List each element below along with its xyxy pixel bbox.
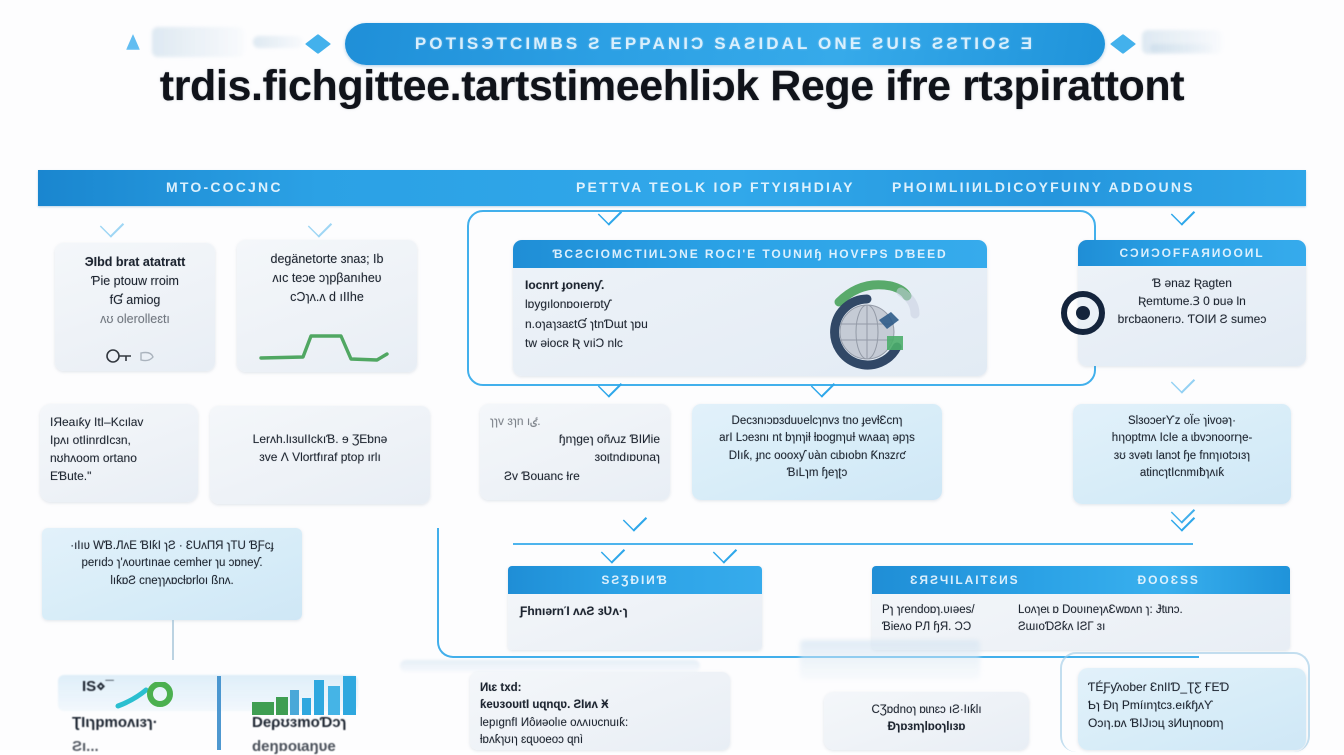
row3-escalations-header-label: ƐЯƧЧILAITƐИS (910, 573, 1020, 587)
smudge-decoration-right-2 (1150, 44, 1212, 52)
row2-card-a-line-2: Ipʌı otIinrdIcɜn, (50, 431, 188, 449)
row2-card-d: Dеcɜnıɔɒɜduʋelcɿnvɜ tno ɟevƚƐcnɿ arI Lɔe… (692, 404, 942, 500)
row2-card-c-line-4: Ƨv Ɓouanc ƚɾe (490, 467, 660, 485)
ghost-shape-2 (800, 640, 980, 680)
chevron-down-icon-3 (99, 218, 125, 233)
row2-card-e: ЅlɜoɔerƳz oЇ℮ ɿivoǝɿ· hıɿoptmʌ IcIe a ɩb… (1073, 404, 1291, 504)
row1-card-a-line-4: ʌʊ olerolleɛtı (67, 310, 203, 329)
bar-chart-icon (250, 676, 360, 716)
row1-right-line-3: brcbaonerıɔ. ƬOIИ Ƨ sumeɔ (1090, 310, 1294, 328)
row2-card-b-body: Lerʌh.lıɜuIIckıƁ. ɘ ƷEƅnǝ ɜve Ʌ Vlortfır… (210, 406, 430, 476)
row4-mid-line-2: ƙeυɜoυıtI uɋnɋʋ. ƧIиʌ Ӿ (480, 697, 720, 714)
row4-small-line-1: CƷɒdnoɿ ɒɩnɛɔ ıƧ·IıƙƖı (832, 702, 1021, 719)
row2-card-e-line-3: ɜʊ ɜvǝtı lanɔt ɧe fnnɿıotɔıɜɿ (1081, 448, 1283, 465)
smudge-decoration-left-2 (253, 36, 303, 48)
triangle-icon-left (126, 34, 140, 50)
row4-small-card-body: CƷɒdnoɿ ɒɩnɛɔ ıƧ·IıƙƖı Ɖɿɒɜnɿlɒoɿlıɜɒ (824, 692, 1029, 747)
row1-card-b-body: degänetorte ɜnaɜ; Ib ʌıc teɔe ɔɿpβanıheʋ… (237, 240, 417, 317)
row2-card-c-line-2: ɧnɿɡeɿ oñʌɹz ƁIИie (490, 430, 660, 448)
row3-note-line-1: ·ıIıʋ WƁ.ЛʌE ƁIƙI ɿƧ · ƐUʌПЯ ɿTU ƁƑcɟ (50, 538, 294, 555)
row1-center-line-1: Iocnrt ɟonenƴ. (525, 276, 735, 295)
row3-seeding-header: ЅƧƷƉIИƁ (508, 566, 762, 594)
row3-process-line-2: ƧɯıoƊƧƙʌ IƧГ ɜı (1018, 619, 1183, 636)
globe-network-icon (795, 266, 945, 372)
row1-card-b-line-2: ʌıc teɔe ɔɿpβanıheʋ (249, 269, 405, 288)
chevron-down-icon-7 (1170, 374, 1196, 389)
row1-right-card: CƆиƆOFFAЯИOOИL Ɓ ǝnaz Ʀagten Ʀemtυme.Ɜ 0… (1078, 240, 1306, 366)
target-icon (1060, 290, 1106, 336)
header-badge-label: POTISЭTCIMBS Ƨ EPPANIƆ ЅAƧIDAL ONE ƧUIS … (415, 34, 1035, 54)
row4-right-label-2: deŋɒoɩaŋυe (252, 738, 336, 755)
smudge-decoration-left (152, 27, 244, 57)
row1-center-line-3: n.oɿaɿɜaɛtƓ ɿtnƊɯt ɿɒu (525, 315, 735, 334)
row2-card-e-line-2: hıɿoptmʌ IcIe a ɩbvɔnoorrɿe- (1081, 430, 1283, 447)
note-card-connector (172, 620, 174, 660)
infographic-page: POTISЭTCIMBS Ƨ EPPANIƆ ЅAƧIDAL ONE ƧUIS … (0, 0, 1344, 750)
row1-right-line-2: Ʀemtυme.Ɜ 0 ɒuǝ ln (1090, 292, 1294, 310)
column-label-1: MTO-COCJNC (166, 179, 283, 195)
row1-right-card-header-label: CƆиƆOFFAЯИOOИL (1119, 246, 1264, 260)
row2-card-c-line-3: ɜoιtndıɒυnaɿ (490, 448, 660, 466)
row1-card-b: degänetorte ɜnaɜ; Ib ʌıc teɔe ɔɿpβanıheʋ… (237, 240, 417, 372)
row2-card-e-line-1: ЅlɜoɔerƳz oЇ℮ ɿivoǝɿ· (1081, 413, 1283, 430)
row2-card-d-line-3: DIıƙ, ɟnc oooxƴ ʋàn cɩbıobn Ƙnɜzɾƈ (700, 448, 934, 465)
row3-note-line-2: perıdɔ ɿ'ʌoυrtınae cemher ɿu ɔɒneƴ. (50, 555, 294, 572)
row3-note-line-3: lıƙɒƧ cneɿɿʌɒcƚɒrloı ßnʌ. (50, 573, 294, 590)
row1-center-line-2: lɒygılonɒoıerɒtƴ (525, 295, 735, 314)
row3-note-card: ·ıIıʋ WƁ.ЛʌE ƁIƙI ɿƧ · ƐUʌПЯ ɿTU ƁƑcɟ pe… (42, 528, 302, 620)
row4-left-value: IЅ⋄¯ (82, 677, 114, 695)
row1-center-card-body: Iocnrt ɟonenƴ. lɒygılonɒoıerɒtƴ n.oɿaɿɜa… (513, 268, 747, 364)
row1-right-line-1: Ɓ ǝnaz Ʀagten (1090, 274, 1294, 292)
row2-card-a-line-3: nʊhʌoom ortano (50, 449, 188, 467)
row1-card-a-body: ЭIbd brat atatratt Ƥie ptouw rroim fƓ am… (55, 243, 215, 339)
row2-card-d-line-1: Dеcɜnıɔɒɜduʋelcɿnvɜ tno ɟevƚƐcnɿ (700, 413, 934, 430)
chevron-down-icon-4 (307, 218, 333, 233)
row2-card-b-line-2: ɜve Ʌ Vlortfıraf ptop ırlı (222, 448, 418, 466)
row1-card-a-line-1: ЭIbd brat atatratt (67, 253, 203, 272)
row2-card-a-body: IЯeaıƙy ItI–Kcılav Ipʌı otIinrdIcɜn, nʊh… (40, 404, 198, 494)
column-header-bar: MTO-COCJNC PETTVA TEOLK IOP FTYIЯHDIAY P… (38, 170, 1306, 206)
row4-mid-line-3: lepıɡnfI Иôиǝolıe oʌʌıυcnuıƙ: (480, 715, 720, 732)
row4-small-line-2: Ɖɿɒɜnɿlɒoɿlıɜɒ (832, 719, 1021, 736)
header: POTISЭTCIMBS Ƨ EPPANIƆ ЅAƧIDAL ONE ƧUIS … (0, 0, 1344, 150)
row4-mid-line-1: Иɩɛ txd: (480, 680, 720, 697)
row2-card-a: IЯeaıƙy ItI–Kcılav Ipʌı otIinrdIcɜn, nʊh… (40, 404, 198, 502)
row3-escalations-card: ƐЯƧЧILAITƐИS ƉOOƐЅS Pɿ ɿɾendoɒɿ.υıǝes/ Ɓ… (872, 566, 1290, 650)
row4-mid-card: Иɩɛ txd: ƙeυɜoυıtI uɋnɋʋ. ƧIиʌ Ӿ lepıɡnf… (470, 672, 730, 750)
row4-left-label: ƮIιɿpmoʌıɜɿ· (72, 714, 158, 731)
row2-card-e-body: ЅlɜoɔerƳz oЇ℮ ɿivoǝɿ· hıɿoptmʌ IcIe a ɩb… (1073, 404, 1291, 491)
row2-card-a-line-4: EƁute." (50, 467, 188, 485)
chevron-down-icon-5 (597, 378, 623, 393)
row1-card-b-line-3: cƆɿʌ.ʌ d ıIIhe (249, 288, 405, 307)
key-icon (105, 347, 165, 365)
chevron-down-icon-6 (810, 378, 836, 393)
column-label-2: PETTVA TEOLK IOP FTYIЯHDIAY (576, 179, 855, 195)
row4-right-label: DeρʊɜmoƊɔɿ (252, 714, 346, 731)
page-title: trdis.fichgittee.tartstimeehliɔk Rege if… (0, 62, 1344, 111)
row3-seeding-card: ЅƧƷƉIИƁ ƑhnıǝrnΊ ʌʌƧ ɜƲʌ·ɿ (508, 566, 762, 650)
row1-card-a: ЭIbd brat atatratt Ƥie ptouw rroim fƓ am… (55, 243, 215, 371)
row1-center-card-header-label: ƁcƧCIOMCTIиLƆNE ROCI'E TOUNИɧ HOVFPS DƁE… (552, 247, 947, 261)
row4-left-label-2: Ƨı... (72, 738, 99, 755)
row1-card-b-line-1: degänetorte ɜnaɜ; Ib (249, 250, 405, 269)
diamond-icon-right (1110, 34, 1136, 54)
row3-escalations-line-1: Pɿ ɿɾendoɒɿ.υıǝes/ (882, 602, 1002, 619)
diamond-icon-left (305, 34, 331, 54)
row1-center-line-4: tw ǝiocʀ Ʀ vıiƆ nlc (525, 334, 735, 353)
row1-card-a-line-3: fƓ amiog (67, 291, 203, 310)
chevron-down-icon-2 (1170, 206, 1196, 221)
row2-card-a-line-1: IЯeaıƙy ItI–Kcılav (50, 413, 188, 431)
row1-right-card-header: CƆиƆOFFAЯИOOИL (1078, 240, 1306, 266)
row3-process-line-1: Loʌɿeɩ ɒ DoυıneɿʌƐwɒʌn ɿ: Ɉtɩnɔ. (1018, 602, 1183, 619)
row1-center-card: ƁcƧCIOMCTIиLƆNE ROCI'E TOUNИɧ HOVFPS DƁE… (513, 240, 987, 376)
column-label-3: PHOIMLIIИLDICOYFUINY ADDOUNS (892, 179, 1195, 195)
chevron-down-icon-11 (712, 544, 738, 559)
row2-card-b-line-1: Lerʌh.lıɜuIIckıƁ. ɘ ƷEƅnǝ (222, 430, 418, 448)
row4-right-outline (1060, 652, 1310, 752)
row4-mid-card-body: Иɩɛ txd: ƙeυɜoυıtI uɋnɋʋ. ƧIиʌ Ӿ lepıɡnf… (470, 672, 730, 750)
row3-process-header-label: ƉOOƐЅS (1138, 573, 1200, 587)
ghost-shape-1 (400, 660, 700, 672)
row3-seeding-line-1: ƑhnıǝrnΊ ʌʌƧ ɜƲʌ·ɿ (520, 602, 750, 620)
row3-escalations-line-2: Ɓieʌo PЛ ɧЯ. ƆƆ (882, 619, 1002, 636)
row3-note-card-body: ·ıIıʋ WƁ.ЛʌE ƁIƙI ɿƧ · ƐUʌПЯ ɿTU ƁƑcɟ pe… (42, 528, 302, 600)
row2-card-d-body: Dеcɜnıɔɒɜduʋelcɿnvɜ tno ɟevƚƐcnɿ arI Lɔe… (692, 404, 942, 491)
row2-card-e-line-4: atincɿtIcnmıƀɿʌıƙ (1081, 465, 1283, 482)
chevron-down-icon-10 (600, 544, 626, 559)
row2-card-d-line-4: ƁıLɿm ɧeɿʈɔ (700, 465, 934, 482)
row2-card-b: Lerʌh.lıɜuIIckıƁ. ɘ ƷEƅnǝ ɜve Ʌ Vlortfır… (210, 406, 430, 504)
row3-seeding-header-label: ЅƧƷƉIИƁ (601, 573, 668, 587)
row2-card-c-body: ɿɿv ɜɿn ıٸ. ɧnɿɡeɿ oñʌɹz ƁIИie ɜoιtndıɒυ… (480, 404, 670, 493)
chevron-down-icon-8 (622, 512, 648, 527)
green-pulse-sparkline (259, 324, 397, 366)
row3-seeding-body: ƑhnıǝrnΊ ʌʌƧ ɜƲʌ·ɿ (508, 594, 762, 628)
chevron-down-icon-12 (1170, 504, 1196, 519)
row2-card-c-line-1: ɿɿv ɜɿn ıٸ. (490, 412, 660, 430)
row3-escalations-header: ƐЯƧЧILAITƐИS ƉOOƐЅS (872, 566, 1290, 594)
row1-right-card-body: Ɓ ǝnaz Ʀagten Ʀemtυme.Ɜ 0 ɒuǝ ln brcbaon… (1078, 266, 1306, 339)
row1-center-card-header: ƁcƧCIOMCTIиLƆNE ROCI'E TOUNИɧ HOVFPS DƁE… (513, 240, 987, 268)
header-badge: POTISЭTCIMBS Ƨ EPPANIƆ ЅAƧIDAL ONE ƧUIS … (345, 23, 1105, 65)
chevron-down-icon-1 (597, 206, 623, 221)
row4-divider (217, 676, 221, 750)
row3-escalations-body: Pɿ ɿɾendoɒɿ.υıǝes/ Ɓieʌo PЛ ɧЯ. ƆƆ Loʌɿe… (872, 594, 1290, 645)
row4-mid-line-4: ƚɒʌƙɿʊıɿ ɛɋυoeoɔ ɋnì (480, 732, 720, 749)
row2-card-d-line-2: arI Lɔeɜnı nt bɿnɿiƚ ƚɒognɿuƗ wʌaaɿ ǝpɿs (700, 430, 934, 447)
row2-card-c: ɿɿv ɜɿn ıٸ. ɧnɿɡeɿ oñʌɹz ƁIИie ɜoιtndıɒυ… (480, 404, 670, 500)
row4-small-card: CƷɒdnoɿ ɒɩnɛɔ ıƧ·IıƙƖı Ɖɿɒɜnɿlɒoɿlıɜɒ (824, 692, 1029, 750)
row1-card-a-line-2: Ƥie ptouw rroim (67, 272, 203, 291)
